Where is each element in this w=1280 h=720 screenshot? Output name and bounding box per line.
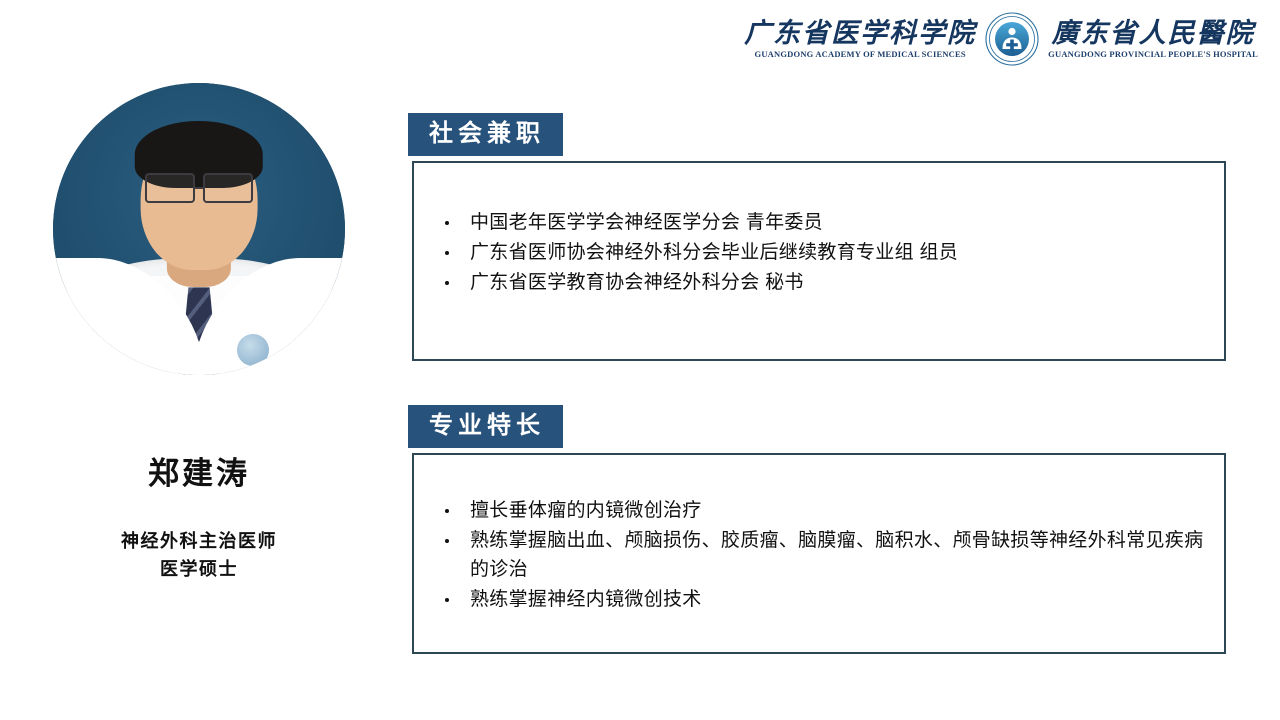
doctor-name: 郑建涛 bbox=[53, 448, 345, 493]
hospital-name-en: GUANGDONG PROVINCIAL PEOPLE'S HOSPITAL bbox=[1048, 49, 1258, 59]
panel-social-positions-header: 社会兼职 bbox=[408, 113, 563, 156]
doctor-titles: 神经外科主治医师 医学硕士 bbox=[33, 528, 365, 584]
panel-professional-specialties-header: 专业特长 bbox=[408, 405, 563, 448]
panel-social-positions: 社会兼职 中国老年医学学会神经医学分会 青年委员 广东省医师协会神经外科分会毕业… bbox=[408, 113, 1226, 361]
glasses-lens-left bbox=[145, 173, 195, 203]
list-item: 广东省医师协会神经外科分会毕业后继续教育专业组 组员 bbox=[432, 239, 1208, 268]
portrait-circle-frame bbox=[53, 83, 345, 375]
hospital-emblem-icon bbox=[984, 11, 1040, 67]
portrait-glasses-icon bbox=[145, 175, 253, 201]
academy-name-en: GUANGDONG ACADEMY OF MEDICAL SCIENCES bbox=[755, 49, 966, 59]
glasses-bridge bbox=[195, 187, 203, 189]
social-positions-list: 中国老年医学学会神经医学分会 青年委员 广东省医师协会神经外科分会毕业后继续教育… bbox=[432, 209, 1208, 298]
doctor-portrait bbox=[53, 83, 345, 375]
brand-logo-lockup: 广东省医学科学院 GUANGDONG ACADEMY OF MEDICAL SC… bbox=[744, 8, 1258, 70]
list-item: 广东省医学教育协会神经外科分会 秘书 bbox=[432, 269, 1208, 298]
hospital-logo: 廣东省人民醫院 GUANGDONG PROVINCIAL PEOPLE'S HO… bbox=[1048, 19, 1258, 59]
hospital-name-cn: 廣东省人民醫院 bbox=[1052, 19, 1255, 47]
list-item: 熟练掌握脑出血、颅脑损伤、胶质瘤、脑膜瘤、脑积水、颅骨缺损等神经外科常见疾病的诊… bbox=[432, 527, 1208, 585]
professional-specialties-list: 擅长垂体瘤的内镜微创治疗 熟练掌握脑出血、颅脑损伤、胶质瘤、脑膜瘤、脑积水、颅骨… bbox=[432, 497, 1208, 615]
panel-professional-specialties-body: 擅长垂体瘤的内镜微创治疗 熟练掌握脑出血、颅脑损伤、胶质瘤、脑膜瘤、脑积水、颅骨… bbox=[412, 453, 1226, 654]
panel-social-positions-body: 中国老年医学学会神经医学分会 青年委员 广东省医师协会神经外科分会毕业后继续教育… bbox=[412, 161, 1226, 361]
academy-name-cn: 广东省医学科学院 bbox=[744, 19, 976, 47]
glasses-lens-right bbox=[203, 173, 253, 203]
list-item: 熟练掌握神经内镜微创技术 bbox=[432, 586, 1208, 615]
list-item: 擅长垂体瘤的内镜微创治疗 bbox=[432, 497, 1208, 526]
panel-professional-specialties: 专业特长 擅长垂体瘤的内镜微创治疗 熟练掌握脑出血、颅脑损伤、胶质瘤、脑膜瘤、脑… bbox=[408, 405, 1226, 654]
academy-logo: 广东省医学科学院 GUANGDONG ACADEMY OF MEDICAL SC… bbox=[744, 19, 976, 59]
doctor-title-line-1: 神经外科主治医师 bbox=[33, 528, 365, 556]
list-item: 中国老年医学学会神经医学分会 青年委员 bbox=[432, 209, 1208, 238]
doctor-title-line-2: 医学硕士 bbox=[33, 556, 365, 584]
